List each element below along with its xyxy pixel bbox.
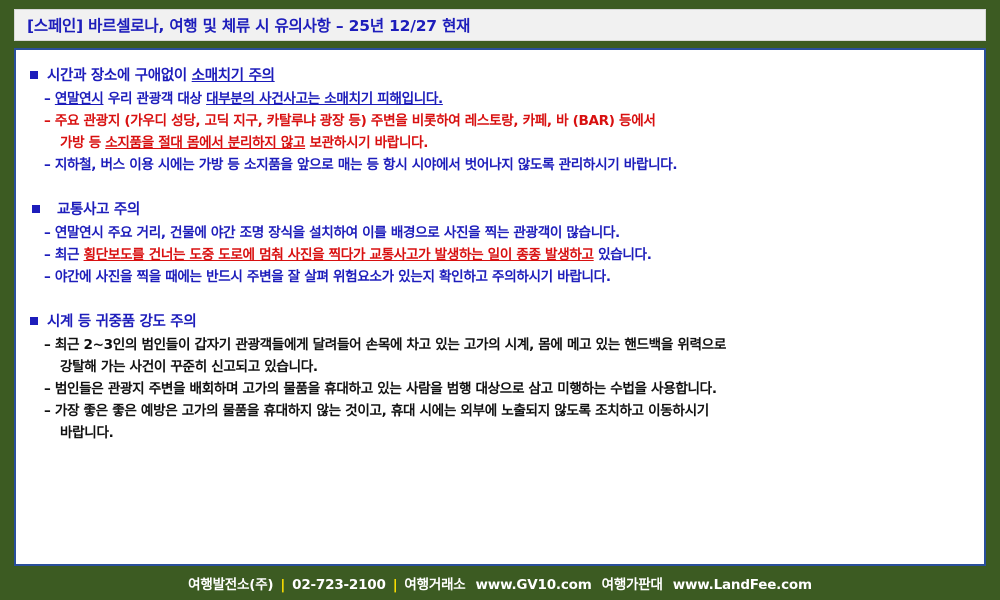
bullet-line: – 최근 횡단보도를 건너는 도중 도로에 멈춰 사진을 찍다가 교통사고가 발… <box>44 244 970 266</box>
footer-contact-line: 여행발전소(주)|02-723-2100|여행거래소www.GV10.com여행… <box>188 573 812 593</box>
bullet-line: – 주요 관광지 (가우디 성당, 고딕 지구, 카탈루냐 광장 등) 주변을 … <box>44 110 970 132</box>
section-heading-pickpocket: 시간과 장소에 구애없이 소매치기 주의 <box>30 64 970 85</box>
line-part: – 최근 2~3인의 범인들이 갑자기 관광객들에게 달려들어 손목에 차고 있… <box>44 337 726 353</box>
bullet-line: – 최근 2~3인의 범인들이 갑자기 관광객들에게 달려들어 손목에 차고 있… <box>44 334 970 356</box>
bullet-line: 바랍니다. <box>44 422 970 444</box>
section-heading-traffic-accident: 교통사고 주의 <box>30 198 970 219</box>
bullet-line: 가방 등 소지품을 절대 몸에서 분리하지 않고 보관하시기 바랍니다. <box>44 132 970 154</box>
heading-part: 시계 등 귀중품 강도 주의 <box>47 314 196 330</box>
square-bullet-icon <box>30 71 38 79</box>
footer-separator-1: | <box>280 577 285 593</box>
line-part: – 범인들은 관광지 주변을 배회하며 고가의 물품을 휴대하고 있는 사람을 … <box>44 381 717 397</box>
line-part: 있습니다. <box>594 247 652 263</box>
heading-part: 시간과 장소에 구애없이 <box>47 68 192 84</box>
line-part: – 주요 관광지 (가우디 성당, 고딕 지구, 카탈루냐 광장 등) 주변을 … <box>44 113 656 129</box>
section-heading-valuables-robbery: 시계 등 귀중품 강도 주의 <box>30 310 970 331</box>
line-part: – 연말연시 주요 거리, 건물에 야간 조명 장식을 설치하여 이를 배경으로… <box>44 225 620 241</box>
square-bullet-icon <box>32 205 40 213</box>
bullet-line: – 야간에 사진을 찍을 때에는 반드시 주변을 잘 살펴 위험요소가 있는지 … <box>44 266 970 288</box>
section-traffic-accident: 교통사고 주의– 연말연시 주요 거리, 건물에 야간 조명 장식을 설치하여 … <box>30 198 970 288</box>
section-heading-text: 시간과 장소에 구애없이 소매치기 주의 <box>47 64 275 85</box>
section-lines-valuables-robbery: – 최근 2~3인의 범인들이 갑자기 관광객들에게 달려들어 손목에 차고 있… <box>30 334 970 444</box>
line-part: – <box>44 91 55 107</box>
line-part: 강탈해 가는 사건이 꾸준히 신고되고 있습니다. <box>60 359 318 375</box>
sections-container: 시간과 장소에 구애없이 소매치기 주의– 연말연시 우리 관광객 대상 대부분… <box>30 64 970 444</box>
heading-part: 교통사고 주의 <box>57 202 140 218</box>
line-part: 보관하시기 바랍니다. <box>305 135 428 151</box>
bullet-line: – 가장 좋은 좋은 예방은 고가의 물품을 휴대하지 않는 것이고, 휴대 시… <box>44 400 970 422</box>
footer-partner2-label: 여행가판대 <box>602 577 663 593</box>
line-part: – 최근 <box>44 247 84 263</box>
content-panel: 시간과 장소에 구애없이 소매치기 주의– 연말연시 우리 관광객 대상 대부분… <box>14 48 986 566</box>
line-part: 바랍니다. <box>60 425 113 441</box>
line-part: 소지품을 절대 몸에서 분리하지 않고 <box>105 135 305 151</box>
section-heading-text: 시계 등 귀중품 강도 주의 <box>47 310 196 331</box>
footer-company: 여행발전소(주) <box>188 577 273 593</box>
footer: 여행발전소(주)|02-723-2100|여행거래소www.GV10.com여행… <box>0 566 1000 600</box>
square-bullet-icon <box>30 317 38 325</box>
section-lines-traffic-accident: – 연말연시 주요 거리, 건물에 야간 조명 장식을 설치하여 이를 배경으로… <box>30 222 970 288</box>
line-part: – 가장 좋은 좋은 예방은 고가의 물품을 휴대하지 않는 것이고, 휴대 시… <box>44 403 709 419</box>
footer-partner1-url[interactable]: www.GV10.com <box>476 577 592 593</box>
bullet-line: – 지하철, 버스 이용 시에는 가방 등 소지품을 앞으로 매는 등 항시 시… <box>44 154 970 176</box>
page-title: [스페인] 바르셀로나, 여행 및 체류 시 유의사항 – 25년 12/27 … <box>15 14 470 36</box>
bullet-line: – 연말연시 우리 관광객 대상 대부분의 사건사고는 소매치기 피해입니다. <box>44 88 970 110</box>
bullet-line: – 범인들은 관광지 주변을 배회하며 고가의 물품을 휴대하고 있는 사람을 … <box>44 378 970 400</box>
bullet-line: – 연말연시 주요 거리, 건물에 야간 조명 장식을 설치하여 이를 배경으로… <box>44 222 970 244</box>
footer-separator-2: | <box>393 577 398 593</box>
section-pickpocket: 시간과 장소에 구애없이 소매치기 주의– 연말연시 우리 관광객 대상 대부분… <box>30 64 970 176</box>
section-valuables-robbery: 시계 등 귀중품 강도 주의– 최근 2~3인의 범인들이 갑자기 관광객들에게… <box>30 310 970 444</box>
line-part: 가방 등 <box>60 135 105 151</box>
section-heading-text: 교통사고 주의 <box>49 198 140 219</box>
footer-partner2-url[interactable]: www.LandFee.com <box>673 577 812 593</box>
heading-part: 소매치기 주의 <box>192 68 275 84</box>
line-part: 대부분의 사건사고는 소매치기 피해입니다. <box>206 91 443 107</box>
line-part: 횡단보도를 건너는 도중 도로에 멈춰 사진을 찍다가 교통사고가 발생하는 일… <box>84 247 594 263</box>
notice-page: [스페인] 바르셀로나, 여행 및 체류 시 유의사항 – 25년 12/27 … <box>0 0 1000 600</box>
line-part: – 지하철, 버스 이용 시에는 가방 등 소지품을 앞으로 매는 등 항시 시… <box>44 157 677 173</box>
footer-partner1-label: 여행거래소 <box>404 577 465 593</box>
line-part: 연말연시 <box>55 91 104 107</box>
bullet-line: 강탈해 가는 사건이 꾸준히 신고되고 있습니다. <box>44 356 970 378</box>
line-part: 우리 관광객 대상 <box>103 91 206 107</box>
footer-phone: 02-723-2100 <box>292 577 386 593</box>
title-bar: [스페인] 바르셀로나, 여행 및 체류 시 유의사항 – 25년 12/27 … <box>14 9 986 41</box>
line-part: – 야간에 사진을 찍을 때에는 반드시 주변을 잘 살펴 위험요소가 있는지 … <box>44 269 611 285</box>
section-lines-pickpocket: – 연말연시 우리 관광객 대상 대부분의 사건사고는 소매치기 피해입니다.–… <box>30 88 970 176</box>
